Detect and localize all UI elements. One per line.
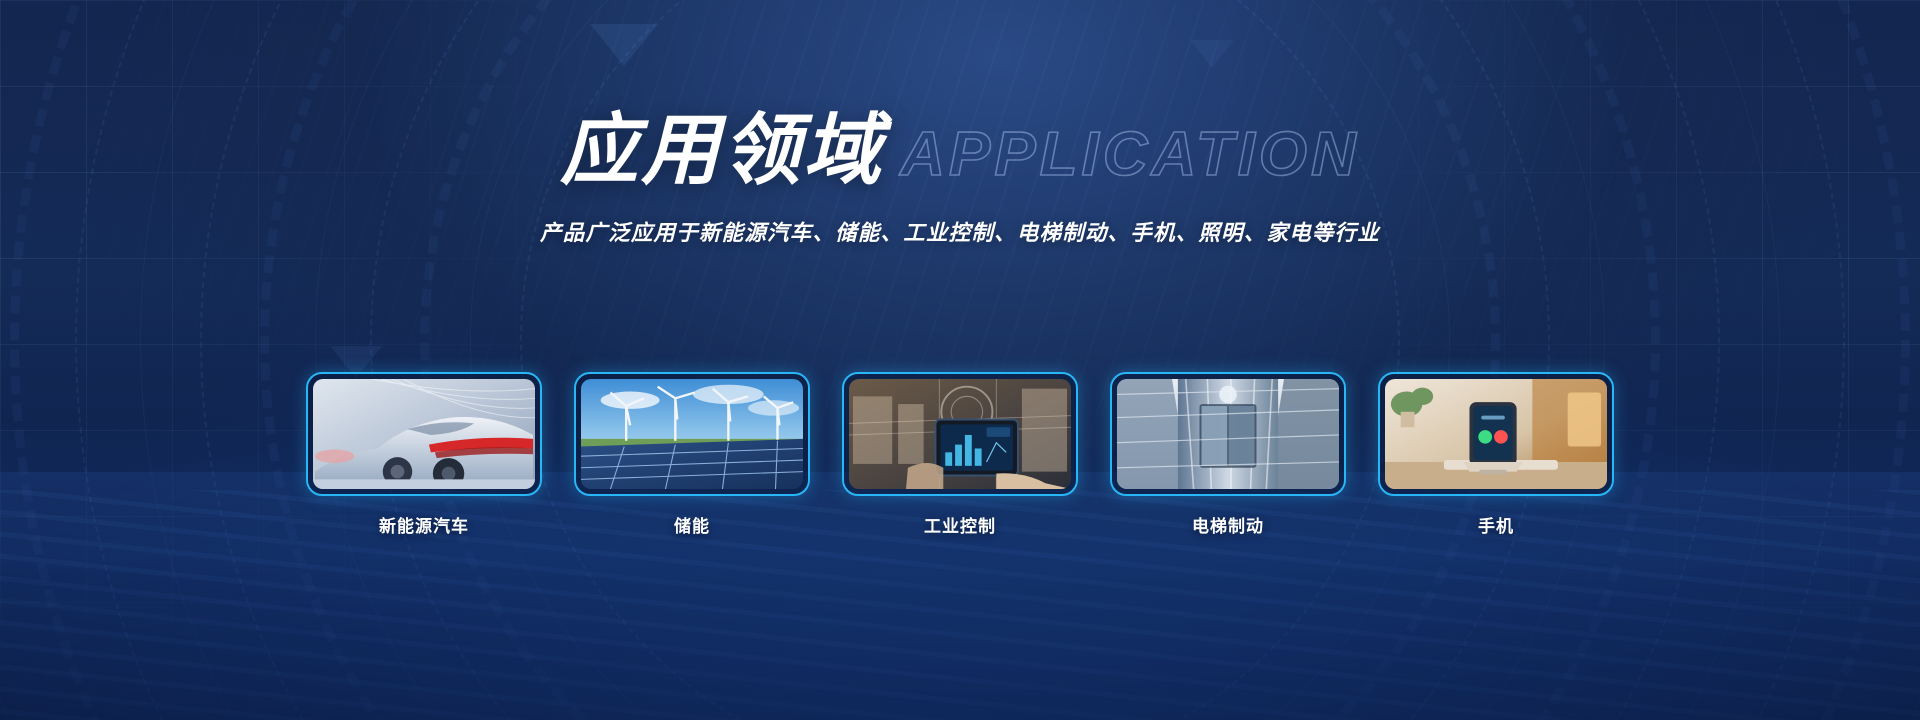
application-card-elevator-braking[interactable]: 电梯制动 [1110,372,1346,537]
card-frame [306,372,542,496]
car-thumbnail [313,379,535,489]
background-light-streaks [0,0,1920,720]
title-row: 应用领域 APPLICATION [560,112,1360,190]
application-banner: 应用领域 APPLICATION 产品广泛应用于新能源汽车、储能、工业控制、电梯… [0,0,1920,720]
mobile-phone-thumbnail [1385,379,1607,489]
card-label: 手机 [1378,512,1614,537]
card-label: 新能源汽车 [306,512,542,537]
page-subtitle: 产品广泛应用于新能源汽车、储能、工业控制、电梯制动、手机、照明、家电等行业 [0,216,1920,247]
industrial-control-thumbnail [849,379,1071,489]
background-triangle-1 [590,24,658,66]
application-card-energy-storage[interactable]: 储能 [574,372,810,537]
application-card-new-energy-vehicle[interactable]: 新能源汽车 [306,372,542,537]
card-frame [842,372,1078,496]
page-title-english: APPLICATION [900,124,1360,190]
card-frame [574,372,810,496]
elevator-thumbnail [1117,379,1339,489]
application-card-industrial-control[interactable]: 工业控制 [842,372,1078,537]
application-card-mobile-phone[interactable]: 手机 [1378,372,1614,537]
page-title: 应用领域 [560,112,884,190]
card-label: 电梯制动 [1110,512,1346,537]
card-label: 工业控制 [842,512,1078,537]
card-label: 储能 [574,512,810,537]
solar-wind-thumbnail [581,379,803,489]
card-frame [1110,372,1346,496]
application-card-list: 新能源汽车 [306,372,1614,537]
banner-header: 应用领域 APPLICATION 产品广泛应用于新能源汽车、储能、工业控制、电梯… [0,112,1920,247]
background-triangle-3 [1190,40,1234,68]
card-frame [1378,372,1614,496]
